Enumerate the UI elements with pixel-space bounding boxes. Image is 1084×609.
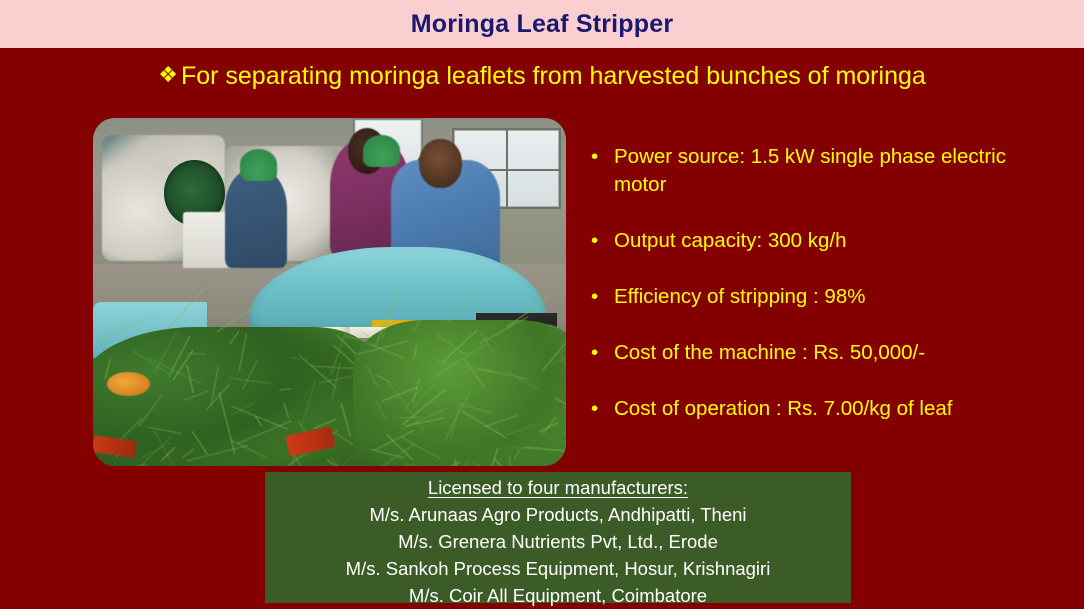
photo-foliage-streak bbox=[138, 394, 163, 427]
photo-foliage-streak bbox=[238, 333, 248, 373]
title-banner: Moringa Leaf Stripper bbox=[0, 0, 1084, 48]
diamond-bullet-icon: ❖ bbox=[158, 64, 178, 86]
photo-foliage-streak bbox=[513, 449, 521, 460]
slide-root: Moringa Leaf Stripper ❖ For separating m… bbox=[0, 0, 1084, 609]
photo-foliage-streak bbox=[506, 370, 540, 390]
photo-foliage-streak bbox=[183, 390, 208, 401]
bullet-icon: • bbox=[591, 339, 598, 367]
licensed-manufacturers-box: Licensed to four manufacturers: M/s. Aru… bbox=[265, 472, 851, 603]
photo-foliage-streak bbox=[191, 431, 208, 455]
photo-man-head bbox=[419, 139, 462, 188]
machine-photo-content bbox=[93, 118, 566, 466]
subtitle-row: ❖ For separating moringa leaflets from h… bbox=[0, 56, 1084, 96]
photo-foliage-streak bbox=[218, 392, 236, 455]
photo-foliage-streak bbox=[462, 410, 507, 439]
photo-foliage-streak bbox=[435, 333, 463, 354]
spec-item-label: Output capacity: 300 kg/h bbox=[614, 229, 846, 252]
photo-foliage-streak bbox=[358, 339, 409, 354]
spec-item-machine-cost: • Cost of the machine : Rs. 50,000/- bbox=[588, 339, 1018, 367]
photo-foliage-right bbox=[353, 320, 566, 466]
photo-foliage-streak bbox=[236, 420, 291, 445]
machine-photo bbox=[93, 118, 566, 466]
manufacturer-row: M/s. Sankoh Process Equipment, Hosur, Kr… bbox=[265, 555, 851, 582]
photo-foliage-streak bbox=[205, 384, 231, 411]
spec-item-label: Cost of the machine : Rs. 50,000/- bbox=[614, 341, 925, 364]
photo-foliage-streak bbox=[478, 368, 528, 380]
bullet-icon: • bbox=[591, 395, 598, 423]
licence-heading: Licensed to four manufacturers: bbox=[265, 475, 851, 501]
photo-foliage-streak bbox=[494, 458, 517, 466]
photo-foliage-streak bbox=[243, 359, 259, 389]
spec-item-operation-cost: • Cost of operation : Rs. 7.00/kg of lea… bbox=[588, 395, 1018, 423]
photo-worker-green-cap-1 bbox=[240, 149, 278, 180]
photo-foliage-streak bbox=[412, 318, 421, 332]
specs-list: • Power source: 1.5 kW single phase elec… bbox=[588, 143, 1018, 423]
spec-item-label: Power source: 1.5 kW single phase electr… bbox=[614, 145, 1006, 196]
spec-item-efficiency: • Efficiency of stripping : 98% bbox=[588, 283, 1018, 311]
manufacturer-row: M/s. Arunaas Agro Products, Andhipatti, … bbox=[265, 501, 851, 528]
spec-item-power-source: • Power source: 1.5 kW single phase elec… bbox=[588, 143, 1018, 199]
photo-worker-blue-shirt bbox=[225, 170, 286, 267]
photo-foliage-streak bbox=[147, 426, 183, 434]
bullet-icon: • bbox=[591, 143, 598, 171]
bullet-icon: • bbox=[591, 227, 598, 255]
photo-foliage-streak bbox=[340, 403, 352, 437]
photo-foliage-streak bbox=[127, 463, 146, 466]
photo-orange-object bbox=[107, 372, 150, 396]
photo-foliage-streak bbox=[300, 379, 316, 427]
photo-foliage-streak bbox=[337, 433, 355, 446]
photo-foliage-streak bbox=[413, 343, 418, 358]
spec-item-label: Cost of operation : Rs. 7.00/kg of leaf bbox=[614, 397, 952, 420]
manufacturer-row: M/s. Coir All Equipment, Coimbatore bbox=[265, 582, 851, 609]
photo-foliage-streak bbox=[230, 405, 288, 430]
photo-foliage-streak bbox=[229, 331, 240, 345]
photo-foliage-streak bbox=[186, 445, 248, 462]
bullet-icon: • bbox=[591, 283, 598, 311]
photo-foliage-streak bbox=[464, 358, 486, 388]
spec-item-label: Efficiency of stripping : 98% bbox=[614, 285, 865, 308]
photo-foliage-streak bbox=[283, 403, 290, 419]
subtitle-text: For separating moringa leaflets from har… bbox=[181, 64, 926, 89]
photo-foliage-streak bbox=[563, 392, 566, 436]
photo-foliage-streak bbox=[181, 448, 194, 458]
photo-foliage-streak bbox=[375, 400, 388, 424]
photo-foliage-streak bbox=[279, 388, 291, 391]
photo-foliage-streak bbox=[506, 425, 535, 437]
spec-item-output-capacity: • Output capacity: 300 kg/h bbox=[588, 227, 1018, 255]
photo-foliage-streak bbox=[230, 377, 272, 385]
photo-foliage-streak bbox=[541, 322, 566, 371]
manufacturer-row: M/s. Grenera Nutrients Pvt, Ltd., Erode bbox=[265, 528, 851, 555]
page-title: Moringa Leaf Stripper bbox=[411, 12, 674, 37]
photo-worker-green-cap-2 bbox=[363, 135, 401, 166]
